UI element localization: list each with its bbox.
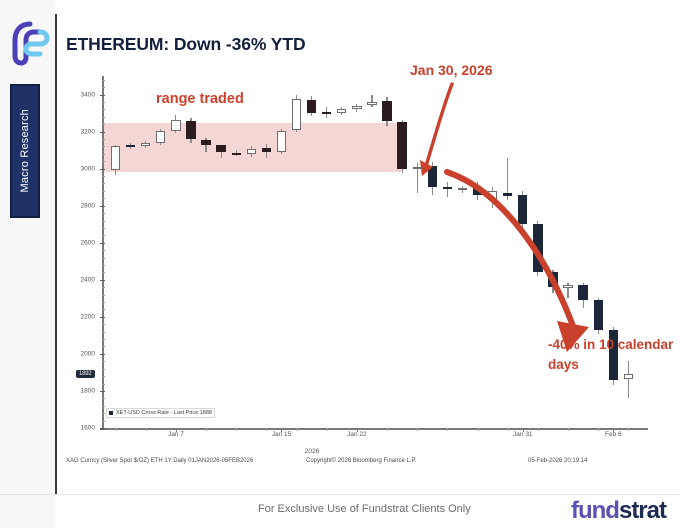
candle-body xyxy=(171,120,180,130)
y-axis-minor-tick xyxy=(102,161,105,162)
x-axis-tick xyxy=(281,428,282,432)
y-axis-tick xyxy=(100,95,105,97)
candle-body xyxy=(277,131,286,152)
y-axis-minor-tick xyxy=(102,265,105,266)
y-axis-minor-tick xyxy=(102,421,105,422)
x-axis xyxy=(102,428,648,430)
y-axis-minor-tick xyxy=(102,324,105,325)
chart-container: range traded 1892 XET-USD Cross Rate - L… xyxy=(66,62,666,462)
y-axis-tick xyxy=(100,317,105,319)
x-axis-minor-tick xyxy=(538,428,539,431)
legend-label: XET-USD Cross Rate - Last Price 1888 xyxy=(116,410,212,416)
candle-body xyxy=(111,146,120,170)
y-axis-minor-tick xyxy=(102,339,105,340)
y-axis-tick xyxy=(100,206,105,208)
source-center: Copyright© 2026 Bloomberg Finance L.P. xyxy=(306,458,416,464)
y-axis-minor-tick xyxy=(102,176,105,177)
candle-body xyxy=(337,109,346,113)
x-axis-minor-tick xyxy=(508,428,509,431)
y-axis-tick-label: 2000 xyxy=(81,350,95,357)
x-axis-minor-tick xyxy=(598,428,599,431)
y-axis-minor-tick xyxy=(102,332,105,333)
candle-body xyxy=(473,187,482,194)
left-rail xyxy=(0,0,55,528)
x-axis-minor-tick xyxy=(297,428,298,431)
y-axis-minor-tick xyxy=(102,109,105,110)
footer-divider xyxy=(0,494,680,495)
y-axis-minor-tick xyxy=(102,302,105,303)
y-axis-minor-tick xyxy=(102,413,105,414)
x-axis-minor-tick xyxy=(236,428,237,431)
y-axis-minor-tick xyxy=(102,80,105,81)
y-axis-tick xyxy=(100,243,105,245)
y-axis-minor-tick xyxy=(102,198,105,199)
candle-body xyxy=(352,106,361,110)
y-axis-tick-label: 1800 xyxy=(81,387,95,394)
y-axis-minor-tick xyxy=(102,221,105,222)
y-axis-tick-label: 2800 xyxy=(81,202,95,209)
candle-body xyxy=(443,187,452,189)
x-axis-minor-tick xyxy=(568,428,569,431)
y-axis-minor-tick xyxy=(102,258,105,259)
candle-body xyxy=(413,167,422,169)
footer-note: For Exclusive Use of Fundstrat Clients O… xyxy=(258,503,471,515)
y-axis-tick-label: 3200 xyxy=(81,128,95,135)
y-axis-tick-label: 1600 xyxy=(81,425,95,432)
chart-legend: XET-USD Cross Rate - Last Price 1888 xyxy=(106,408,215,418)
y-axis-tick xyxy=(100,280,105,282)
candle-body xyxy=(488,191,497,200)
y-axis-minor-tick xyxy=(102,183,105,184)
date-callout-label: Jan 30, 2026 xyxy=(410,62,493,78)
y-axis-minor-tick xyxy=(102,398,105,399)
y-axis-minor-tick xyxy=(102,250,105,251)
drop-callout-label: -40% in 10 calendar days xyxy=(548,335,678,374)
x-axis-year-label: 2026 xyxy=(305,448,319,455)
y-axis-minor-tick xyxy=(102,124,105,125)
macro-research-label: Macro Research xyxy=(19,109,31,193)
candle-body xyxy=(322,112,331,114)
candle-body xyxy=(518,195,527,225)
y-axis-tick-label: 3400 xyxy=(81,91,95,98)
candle-body xyxy=(624,374,633,379)
x-axis-minor-tick xyxy=(628,428,629,431)
candle-body xyxy=(563,285,572,288)
y-axis-minor-tick xyxy=(102,191,105,192)
y-axis-minor-tick xyxy=(102,295,105,296)
candle-body xyxy=(201,140,210,146)
candle-body xyxy=(548,272,557,287)
candle-body xyxy=(397,122,406,168)
source-left: XAG Curncy (Silver Spot $/OZ) ETH 1Y Dai… xyxy=(66,458,253,464)
x-axis-minor-tick xyxy=(447,428,448,431)
y-axis-tick xyxy=(100,391,105,393)
y-axis-tick xyxy=(100,354,105,356)
y-axis-minor-tick xyxy=(102,309,105,310)
candle-body xyxy=(428,166,437,187)
y-axis-tick-label: 3000 xyxy=(81,165,95,172)
y-axis-minor-tick xyxy=(102,384,105,385)
last-price-badge: 1892 xyxy=(76,370,95,378)
y-axis-minor-tick xyxy=(102,361,105,362)
y-axis-minor-tick xyxy=(102,154,105,155)
candle-body xyxy=(578,285,587,300)
candle-body xyxy=(247,149,256,154)
x-axis-tick-label: Jan 15 xyxy=(272,431,292,438)
y-axis-minor-tick xyxy=(102,146,105,147)
y-axis-minor-tick xyxy=(102,406,105,407)
fundstrat-wordmark: fundstrat xyxy=(571,497,666,525)
y-axis-tick-label: 2600 xyxy=(81,239,95,246)
candle-body xyxy=(594,300,603,330)
candle-body xyxy=(307,100,316,113)
candle-body xyxy=(232,153,241,155)
x-axis-minor-tick xyxy=(478,428,479,431)
x-axis-minor-tick xyxy=(146,428,147,431)
source-right: 05-Feb-2026 20:19:14 xyxy=(528,458,587,464)
y-axis-minor-tick xyxy=(102,346,105,347)
x-axis-tick-label: Jan 7 xyxy=(168,431,184,438)
candle-body xyxy=(503,193,512,197)
candle-body xyxy=(262,148,271,152)
y-axis-tick xyxy=(100,428,105,430)
range-traded-label: range traded xyxy=(156,91,244,107)
candle-body xyxy=(156,131,165,143)
x-axis-minor-tick xyxy=(206,428,207,431)
candle-body xyxy=(186,121,195,139)
candle-body xyxy=(367,102,376,105)
fundstrat-wordmark-part2: strat xyxy=(619,497,666,524)
x-axis-minor-tick xyxy=(387,428,388,431)
x-axis-tick-label: Jan 31 xyxy=(513,431,533,438)
y-axis-minor-tick xyxy=(102,87,105,88)
candle-body xyxy=(141,143,150,147)
rail-divider xyxy=(55,14,57,494)
macro-research-badge: Macro Research xyxy=(10,84,40,218)
y-axis-minor-tick xyxy=(102,235,105,236)
y-axis-minor-tick xyxy=(102,287,105,288)
y-axis-minor-tick xyxy=(102,369,105,370)
page-title: ETHEREUM: Down -36% YTD xyxy=(66,34,305,55)
x-axis-tick xyxy=(357,428,358,432)
candle-body xyxy=(382,101,391,121)
x-axis-tick xyxy=(176,428,177,432)
x-axis-minor-tick xyxy=(327,428,328,431)
y-axis-minor-tick xyxy=(102,139,105,140)
y-axis-minor-tick xyxy=(102,272,105,273)
y-axis-minor-tick xyxy=(102,117,105,118)
x-axis-minor-tick xyxy=(116,428,117,431)
candle-body xyxy=(458,188,467,190)
y-axis-minor-tick xyxy=(102,102,105,103)
x-axis-tick-label: Jan 22 xyxy=(347,431,367,438)
legend-swatch-icon xyxy=(109,411,113,415)
y-axis-minor-tick xyxy=(102,228,105,229)
candle-body xyxy=(533,224,542,272)
fundstrat-wordmark-part1: fund xyxy=(571,497,619,524)
y-axis-tick xyxy=(100,169,105,171)
x-axis-tick-label: Feb 6 xyxy=(605,431,622,438)
x-axis-minor-tick xyxy=(266,428,267,431)
candle-body xyxy=(216,145,225,151)
y-axis-tick xyxy=(100,132,105,134)
y-axis-tick-label: 2200 xyxy=(81,313,95,320)
candle-body xyxy=(292,99,301,130)
x-axis-tick xyxy=(523,428,524,432)
x-axis-minor-tick xyxy=(417,428,418,431)
candlestick-plot xyxy=(102,76,648,428)
fundstrat-f-logo xyxy=(10,20,50,66)
y-axis-tick-label: 2400 xyxy=(81,276,95,283)
y-axis-minor-tick xyxy=(102,213,105,214)
y-axis-minor-tick xyxy=(102,376,105,377)
candle-wick xyxy=(447,182,448,198)
x-axis-tick xyxy=(613,428,614,432)
candle-body xyxy=(126,145,135,147)
